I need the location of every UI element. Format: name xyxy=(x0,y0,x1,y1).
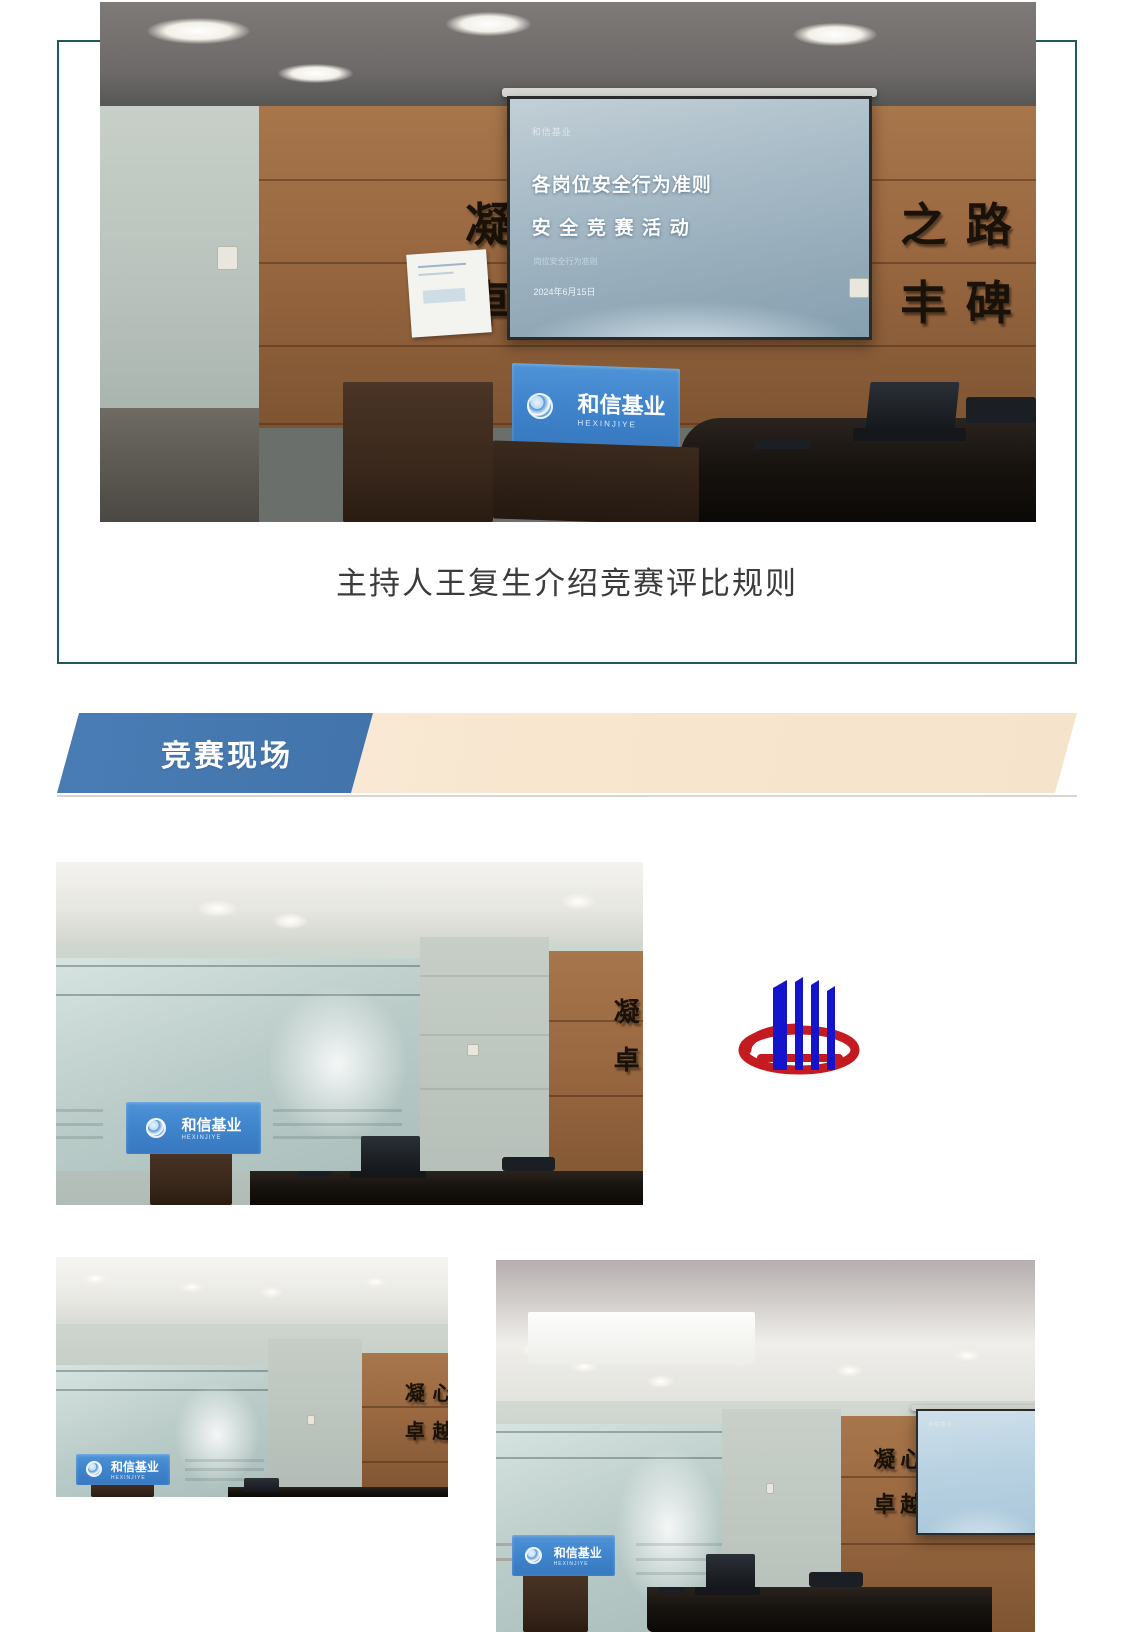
podium-brand-en: HEXINJIYE xyxy=(577,418,636,429)
projection-screen: 和信基业 各岗位安全行为准则 安 全 竞 赛 活 动 岗位安全行为准则 2024… xyxy=(507,96,872,340)
photo-contestant-navy-shirt: 凝 心 卓 越 和信基业 HEXINJIYE xyxy=(56,1257,448,1497)
photo-contestant-green-shirt: 凝 卓 和信基业 HEXINJIYE xyxy=(56,862,643,1205)
podium-brand-cn: 和信基业 xyxy=(577,386,665,421)
hexinjiye-swirl-icon xyxy=(527,392,553,419)
hexinjiye-swirl-icon xyxy=(86,1461,102,1477)
photo-contestant-white-shirt: 凝 心 卓 越 和信基业 和信基业 HEXINJIYE xyxy=(496,1260,1035,1632)
banner-divider xyxy=(57,795,1077,797)
podium-brand-cn: 和信基业 xyxy=(554,1544,602,1561)
section-title: 竞赛现场 xyxy=(161,731,293,775)
podium-nameplate: 和信基业 HEXINJIYE xyxy=(512,363,680,452)
hero-caption: 主持人王复生介绍竞赛评比规则 xyxy=(59,558,1075,603)
hexinjiye-swirl-icon xyxy=(525,1547,542,1564)
article-page: 凝 心 之 路 卓 越 丰 碑 和信基业 各岗位安全行为准则 安 全 竞 赛 活… xyxy=(0,0,1133,1632)
podium-brand-cn: 和信基业 xyxy=(181,1114,241,1135)
slide-brand: 和信基业 xyxy=(928,1421,952,1428)
hexinjiye-company-logo xyxy=(735,958,863,1086)
podium-brand-cn: 和信基业 xyxy=(111,1458,159,1475)
projection-screen: 和信基业 xyxy=(916,1409,1035,1535)
banner-tab: 竞赛现场 xyxy=(57,713,373,793)
slide-line-2: 安 全 竞 赛 活 动 xyxy=(532,213,690,240)
slide-subline: 岗位安全行为准则 xyxy=(533,256,597,267)
slide-line-1: 各岗位安全行为准则 xyxy=(532,170,712,197)
section-banner: 竞赛现场 xyxy=(57,713,1077,793)
slide-date: 2024年6月15日 xyxy=(533,285,595,298)
held-paper xyxy=(406,249,491,338)
hexinjiye-swirl-icon xyxy=(146,1118,166,1138)
podium-brand-en: HEXINJIYE xyxy=(111,1475,146,1481)
slide-brand: 和信基业 xyxy=(532,125,572,138)
podium-brand-en: HEXINJIYE xyxy=(554,1561,589,1567)
host-introducing-rules-photo: 凝 心 之 路 卓 越 丰 碑 和信基业 各岗位安全行为准则 安 全 竞 赛 活… xyxy=(100,2,1036,522)
hero-photo-frame: 凝 心 之 路 卓 越 丰 碑 和信基业 各岗位安全行为准则 安 全 竞 赛 活… xyxy=(57,40,1077,664)
podium-brand-en: HEXINJIYE xyxy=(181,1135,221,1141)
